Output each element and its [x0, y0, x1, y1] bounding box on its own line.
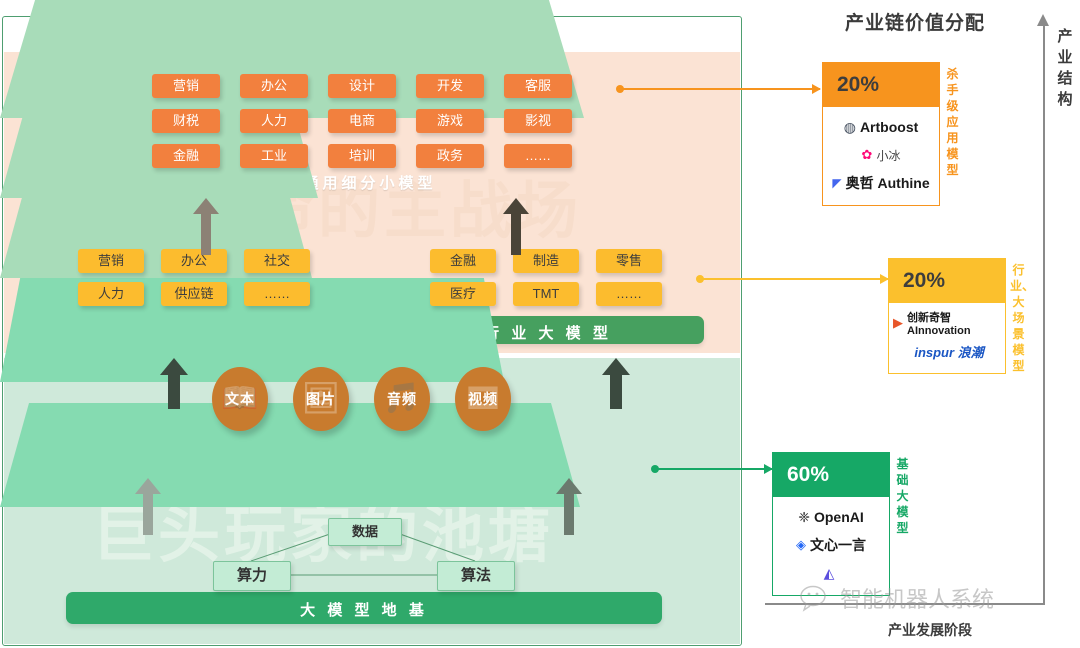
media-bubble-label-1: 图片 [306, 389, 336, 409]
node-compute[interactable]: 算力 [213, 561, 291, 591]
logo-row-0-1: ✿小冰 [827, 141, 935, 169]
tag-industry-1-2[interactable]: …… [596, 282, 662, 306]
platform-general-small-models [0, 0, 584, 118]
tag-general-0-2[interactable]: 设计 [328, 74, 396, 98]
tag-general-1-3[interactable]: 游戏 [416, 109, 484, 133]
media-bubble-label-3: 视频 [468, 389, 498, 409]
tag-general-0-4[interactable]: 客服 [504, 74, 572, 98]
horizontal-axis-line [765, 603, 1045, 605]
tag-industry-1-1[interactable]: TMT [513, 282, 579, 306]
artboost-logo-icon: ◍ [844, 119, 856, 136]
logo-text-1-0: 创新奇智 AInnovation [907, 309, 1001, 337]
logo-row-0-0: ◍Artboost [827, 113, 935, 141]
value-card-side-label-2: 基础大模型 [894, 456, 911, 536]
xiaoice-logo-icon: ✿ [862, 147, 873, 163]
value-card-side-label-0: 杀手级应用模型 [944, 66, 961, 178]
connector-line-0 [620, 88, 820, 90]
tag-scene-1-0[interactable]: 人力 [78, 282, 144, 306]
logo-row-2-2: ◭ [777, 559, 885, 587]
tag-general-0-3[interactable]: 开发 [416, 74, 484, 98]
tag-scene-0-0[interactable]: 营销 [78, 249, 144, 273]
tag-scene-1-1[interactable]: 供应链 [161, 282, 227, 306]
logo-row-0-2: ◤奥哲 Authine [827, 169, 935, 197]
tag-scene-0-1[interactable]: 办公 [161, 249, 227, 273]
connector-arrow-icon-2 [764, 464, 773, 474]
connector-dot-2 [651, 465, 659, 473]
tag-general-1-1[interactable]: 人力 [240, 109, 308, 133]
value-card-percent-2: 60% [773, 453, 889, 497]
connector-arrow-icon-0 [812, 84, 821, 94]
tag-general-2-4[interactable]: …… [504, 144, 572, 168]
connector-dot-0 [616, 85, 624, 93]
value-card-2[interactable]: 60%❈OpenAI◈文心一言◭ [772, 452, 890, 596]
tag-general-1-4[interactable]: 影视 [504, 109, 572, 133]
vertical-axis-label: 产业结构 [1056, 26, 1074, 110]
openai-logo-icon: ❈ [798, 509, 810, 526]
tag-industry-1-0[interactable]: 医疗 [430, 282, 496, 306]
connector-arrow-icon-1 [880, 274, 889, 284]
authine-logo-icon: ◤ [832, 176, 841, 190]
platform-label-base: 大 模 型 地 基 [66, 599, 662, 620]
tag-general-2-3[interactable]: 政务 [416, 144, 484, 168]
media-bubble-1[interactable]: 🖼图片 [293, 367, 349, 431]
logo-text-0-2: 奥哲 Authine [846, 173, 930, 193]
ai-logo-icon: ◭ [824, 565, 835, 582]
tag-general-1-2[interactable]: 电商 [328, 109, 396, 133]
tag-general-2-1[interactable]: 工业 [240, 144, 308, 168]
vertical-axis-arrow-icon [1037, 14, 1049, 26]
logo-text-0-0: Artboost [860, 119, 918, 135]
ernie-logo-icon: ◈ [796, 537, 806, 553]
tag-scene-0-2[interactable]: 社交 [244, 249, 310, 273]
tag-industry-0-2[interactable]: 零售 [596, 249, 662, 273]
value-card-1[interactable]: 20%▶创新奇智 AInnovationinspur 浪潮 [888, 258, 1006, 374]
tag-general-0-1[interactable]: 办公 [240, 74, 308, 98]
tag-general-0-0[interactable]: 营销 [152, 74, 220, 98]
value-card-logos-0: ◍Artboost✿小冰◤奥哲 Authine [823, 107, 939, 205]
value-card-percent-1: 20% [889, 259, 1005, 303]
value-card-side-label-1: 行业、大场景模型 [1010, 262, 1027, 374]
logo-text-1-1: inspur 浪潮 [914, 342, 983, 361]
logo-text-0-1: 小冰 [876, 147, 900, 164]
value-card-0[interactable]: 20%◍Artboost✿小冰◤奥哲 Authine [822, 62, 940, 206]
logo-row-2-0: ❈OpenAI [777, 503, 885, 531]
tag-industry-0-0[interactable]: 金融 [430, 249, 496, 273]
media-bubble-label-0: 文本 [225, 389, 255, 409]
connector-line-1 [700, 278, 888, 280]
node-data[interactable]: 数据 [328, 518, 402, 546]
tag-general-2-0[interactable]: 金融 [152, 144, 220, 168]
horizontal-axis-label: 产业发展阶段 [830, 620, 1030, 640]
tag-industry-0-1[interactable]: 制造 [513, 249, 579, 273]
connector-dot-1 [696, 275, 704, 283]
media-bubble-label-2: 音频 [387, 389, 417, 409]
value-card-percent-0: 20% [823, 63, 939, 107]
ainnovation-logo-icon: ▶ [893, 315, 903, 331]
media-bubble-3[interactable]: 🎞视频 [455, 367, 511, 431]
value-card-logos-1: ▶创新奇智 AInnovationinspur 浪潮 [889, 303, 1005, 373]
node-algorithm[interactable]: 算法 [437, 561, 515, 591]
value-card-logos-2: ❈OpenAI◈文心一言◭ [773, 497, 889, 595]
media-bubble-0[interactable]: 📖文本 [212, 367, 268, 431]
connector-line-2 [655, 468, 772, 470]
logo-text-2-1: 文心一言 [810, 535, 866, 555]
tag-scene-1-2[interactable]: …… [244, 282, 310, 306]
logo-row-1-0: ▶创新奇智 AInnovation [893, 309, 1001, 337]
tag-general-2-2[interactable]: 培训 [328, 144, 396, 168]
tag-general-1-0[interactable]: 财税 [152, 109, 220, 133]
logo-row-2-1: ◈文心一言 [777, 531, 885, 559]
logo-text-2-0: OpenAI [814, 509, 864, 525]
vertical-axis-line [1043, 22, 1045, 604]
media-bubble-2[interactable]: 🎵音频 [374, 367, 430, 431]
logo-row-1-1: inspur 浪潮 [893, 337, 1001, 365]
value-chain-title: 产业链价值分配 [800, 8, 1030, 35]
